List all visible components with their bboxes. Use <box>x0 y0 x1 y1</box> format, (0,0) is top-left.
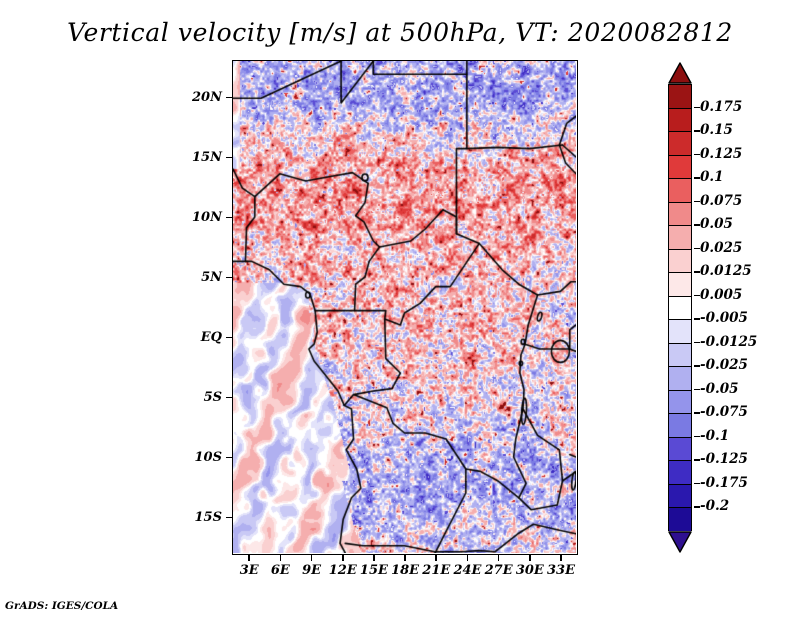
colorbar-tick-label: 0.0125 <box>700 265 752 279</box>
y-axis-label: 10S <box>162 450 222 465</box>
x-tick <box>529 555 531 561</box>
colorbar-band <box>668 343 692 367</box>
colorbar-tick-label: -0.025 <box>700 359 748 373</box>
colorbar-tick-label: -0.0125 <box>700 336 757 350</box>
x-tick <box>467 555 469 561</box>
colorbar-tick-label: 0.005 <box>700 289 742 303</box>
colorbar-tick-label: 0.025 <box>700 242 742 256</box>
y-tick <box>226 397 232 399</box>
colorbar-band <box>668 84 692 108</box>
colorbar-tick-label: -0.125 <box>700 453 748 467</box>
colorbar-band <box>668 413 692 437</box>
x-tick <box>342 555 344 561</box>
colorbar-tick-label: -0.005 <box>700 312 748 326</box>
colorbar-band <box>668 296 692 320</box>
x-tick <box>373 555 375 561</box>
x-tick <box>248 555 250 561</box>
colorbar-tick <box>694 459 700 461</box>
y-axis-label: EQ <box>162 330 222 345</box>
colorbar-tick-label: 0.05 <box>700 218 733 232</box>
colorbar-band <box>668 108 692 132</box>
colorbar-band <box>668 225 692 249</box>
colorbar-band <box>668 460 692 484</box>
colorbar-tick <box>694 107 700 109</box>
colorbar-cap-max <box>668 62 692 84</box>
colorbar-tick-label: 0.075 <box>700 195 742 209</box>
colorbar-tick <box>694 201 700 203</box>
x-tick <box>435 555 437 561</box>
colorbar-tick <box>694 342 700 344</box>
colorbar-tick-label: -0.2 <box>700 500 729 514</box>
y-axis-label: 15N <box>162 150 222 165</box>
colorbar-band <box>668 155 692 179</box>
y-tick <box>226 277 232 279</box>
colorbar-tick <box>694 295 700 297</box>
colorbar[interactable] <box>668 62 692 553</box>
colorbar-tick-label: -0.075 <box>700 406 748 420</box>
colorbar-tick-label: -0.1 <box>700 430 729 444</box>
colorbar-tick <box>694 483 700 485</box>
colorbar-tick-label: 0.15 <box>700 124 733 138</box>
grads-plot: Vertical velocity [m/s] at 500hPa, VT: 2… <box>0 0 800 618</box>
map-panel[interactable] <box>232 60 578 555</box>
x-tick <box>280 555 282 561</box>
colorbar-tick <box>694 389 700 391</box>
colorbar-tick <box>694 506 700 508</box>
y-axis-label: 10N <box>162 210 222 225</box>
x-tick <box>404 555 406 561</box>
y-axis-label: 5N <box>162 270 222 285</box>
colorbar-tick <box>694 130 700 132</box>
y-tick <box>226 337 232 339</box>
page-title: Vertical velocity [m/s] at 500hPa, VT: 2… <box>0 18 800 47</box>
colorbar-band <box>668 484 692 508</box>
colorbar-cap-min <box>668 531 692 553</box>
colorbar-tick-label: 0.175 <box>700 101 742 115</box>
y-axis-label: 15S <box>162 510 222 525</box>
x-tick <box>560 555 562 561</box>
colorbar-band <box>668 390 692 414</box>
colorbar-band <box>668 249 692 273</box>
colorbar-band <box>668 507 692 531</box>
colorbar-tick <box>694 365 700 367</box>
colorbar-band <box>668 131 692 155</box>
colorbar-tick <box>694 412 700 414</box>
colorbar-tick <box>694 318 700 320</box>
y-tick <box>226 157 232 159</box>
y-tick <box>226 97 232 99</box>
y-tick <box>226 217 232 219</box>
colorbar-tick <box>694 224 700 226</box>
x-axis-label: 33E <box>531 563 591 578</box>
colorbar-tick <box>694 177 700 179</box>
colorbar-tick <box>694 248 700 250</box>
colorbar-tick <box>694 154 700 156</box>
colorbar-tick-label: -0.05 <box>700 383 738 397</box>
y-tick <box>226 517 232 519</box>
colorbar-tick-label: 0.1 <box>700 171 724 185</box>
colorbar-band <box>668 202 692 226</box>
y-tick <box>226 457 232 459</box>
y-axis-label: 5S <box>162 390 222 405</box>
colorbar-band <box>668 272 692 296</box>
colorbar-tick-label: 0.125 <box>700 148 742 162</box>
y-axis-label: 20N <box>162 90 222 105</box>
credit-label: GrADS: IGES/COLA <box>5 600 118 612</box>
x-tick <box>498 555 500 561</box>
colorbar-tick <box>694 436 700 438</box>
colorbar-band <box>668 178 692 202</box>
colorbar-band <box>668 437 692 461</box>
x-tick <box>311 555 313 561</box>
colorbar-tick-label: -0.175 <box>700 477 748 491</box>
country-borders-overlay <box>233 61 576 553</box>
colorbar-band <box>668 319 692 343</box>
colorbar-band <box>668 366 692 390</box>
colorbar-tick <box>694 271 700 273</box>
